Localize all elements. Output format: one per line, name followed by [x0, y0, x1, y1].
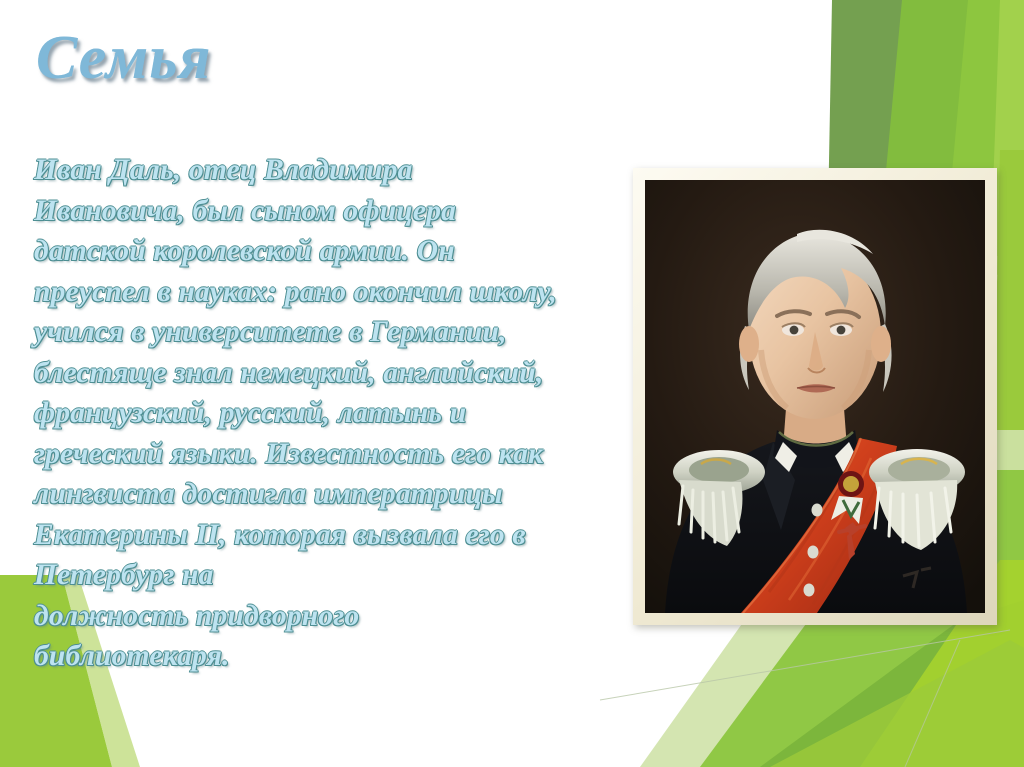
slide-body-text: Иван Даль, отец Владимира Ивановича, был… — [34, 150, 634, 677]
presentation-slide: Семья Семья Иван Даль, отец Владимира Ив… — [0, 0, 1024, 767]
ear-left — [739, 326, 759, 362]
body-line: французский, русский, латынь и — [34, 393, 634, 434]
body-line: Петербург на — [34, 555, 634, 596]
portrait-image-frame — [633, 168, 997, 625]
hairline-vertical — [905, 640, 960, 767]
body-line: учился в университете в Германии, — [34, 312, 634, 353]
body-line: Иван Даль, отец Владимира — [34, 150, 634, 191]
body-line: должность придворного — [34, 596, 634, 637]
hairline-diagonal — [600, 630, 1010, 700]
body-line: преуспел в науках: рано окончил школу, — [34, 272, 634, 313]
ear-right — [871, 326, 891, 362]
green-shape-bottom-wedge — [770, 640, 1024, 767]
body-line: блестяще знал немецкий, английский, — [34, 353, 634, 394]
body-line: Екатерины II, которая вызвала его в — [34, 515, 634, 556]
body-line: библиотекаря. — [34, 636, 634, 677]
slide-title-shadow: Семья — [36, 26, 212, 91]
portrait-of-officer-illustration — [645, 180, 985, 613]
body-line: греческий языки. Известность его как — [34, 434, 634, 475]
body-line: датской королевской армии. Он — [34, 231, 634, 272]
portrait-image — [645, 180, 985, 613]
body-line: лингвиста достигла императрицы — [34, 474, 634, 515]
green-shape-bottom-dark — [760, 600, 1024, 767]
body-line: Ивановича, был сыном офицера — [34, 191, 634, 232]
pupil-right — [837, 326, 846, 335]
pupil-left — [790, 326, 799, 335]
